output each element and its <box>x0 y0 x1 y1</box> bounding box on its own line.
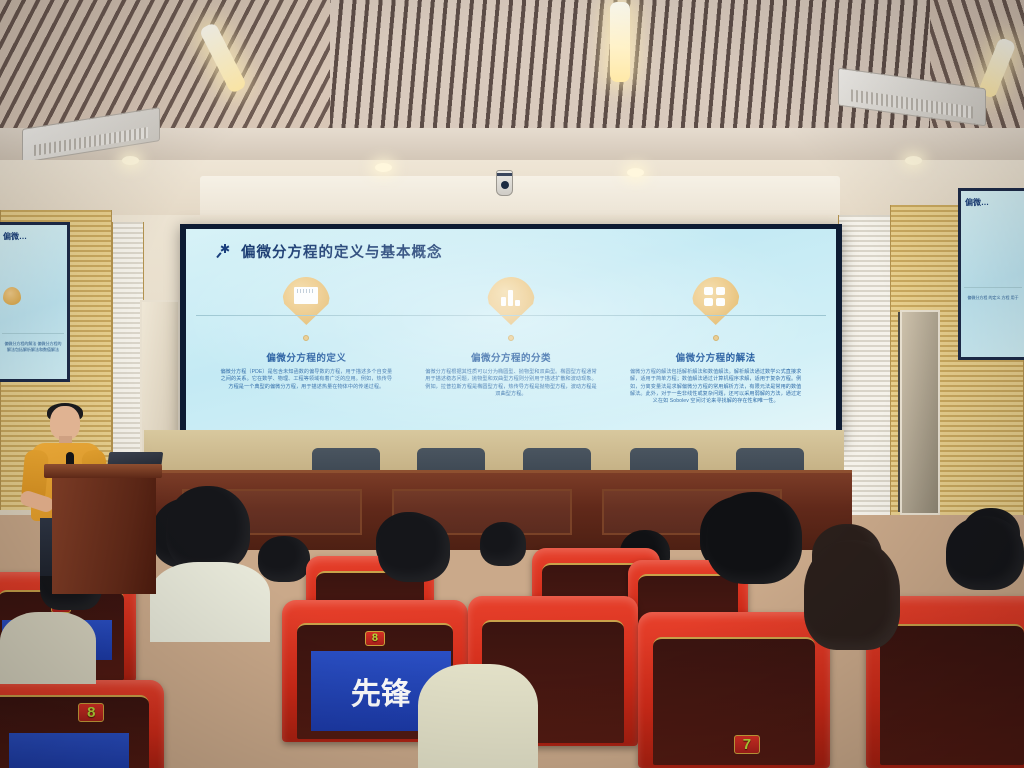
ceiling-camera-icon <box>496 170 513 196</box>
right-display-title: 偏微… <box>965 197 1021 208</box>
pin-glyph <box>704 287 728 307</box>
pin-glyph <box>294 287 318 307</box>
presenter-head <box>50 406 80 440</box>
slide-divider-line <box>196 315 826 316</box>
audience-head <box>480 522 526 566</box>
camera-band <box>497 173 512 176</box>
left-display-title: 偏微… <box>3 231 63 242</box>
timeline-node <box>508 335 514 341</box>
document-card-pin-icon <box>282 277 330 333</box>
slide-column: 偏微分方程的定义 偏微分方程（PDE）是包含未知函数的偏导数的方程，用于描述多个… <box>204 273 409 433</box>
audience-head <box>258 536 310 582</box>
linear-tube-light <box>610 2 630 82</box>
audience-seat[interactable]: 8 <box>0 680 164 768</box>
downlight-icon <box>375 163 392 172</box>
slide-column: 偏微分方程的分类 偏微分方程根据其性质可以分为椭圆型、抛物型和双曲型。椭圆型方程… <box>409 273 614 433</box>
door-right[interactable] <box>900 310 940 515</box>
column-body: 偏微分方程（PDE）是包含未知函数的偏导数的方程，用于描述多个自变量之间的关系。… <box>218 369 394 391</box>
projection-screen[interactable]: 偏微分方程的定义与基本概念 偏微分方程的定义 偏微分方 <box>180 224 842 446</box>
four-quadrant-pin-icon <box>692 277 740 333</box>
right-wall-display[interactable]: 偏微… 偏微分方程 的定义 方程 用于 <box>958 188 1024 360</box>
seat-back-panel: 8 <box>0 695 149 768</box>
four-quadrant-glyph <box>704 287 726 307</box>
column-heading: 偏微分方程的定义 <box>266 350 346 364</box>
audience-seat[interactable]: 7 <box>638 612 830 768</box>
seat-back-panel: 7 <box>653 637 814 765</box>
left-wall-display[interactable]: 偏微… 偏微分方程的解法 偏微分方程的解法包括解析解法和数值解法 <box>0 222 70 382</box>
audience-shoulders <box>418 664 538 768</box>
column-body: 偏微分方程根据其性质可以分为椭圆型、抛物型和双曲型。椭圆型方程通常用于描述稳态问… <box>423 369 599 398</box>
timeline-node <box>713 335 719 341</box>
audience-head-near <box>166 486 250 572</box>
bar-chart-glyph <box>499 287 523 307</box>
seat-number-plate: 8 <box>365 631 385 646</box>
lecture-hall-photo: 偏微… 偏微分方程的解法 偏微分方程的解法包括解析解法和数值解法 偏微… 偏微分… <box>0 0 1024 768</box>
downlight-icon <box>627 168 644 177</box>
audience-head-near <box>706 492 802 584</box>
left-display-rule <box>2 333 64 334</box>
downlight-icon <box>905 156 922 165</box>
wooden-podium <box>52 474 156 594</box>
timeline-node <box>303 335 309 341</box>
slide-title: 偏微分方程的定义与基本概念 <box>241 241 443 262</box>
left-display-body: 偏微分方程的解法 偏微分方程的解法包括解析解法和数值解法 <box>3 341 63 353</box>
column-heading: 偏微分方程的分类 <box>471 350 551 364</box>
seat-back-panel <box>880 624 1024 765</box>
four-quadrant-pin-icon <box>3 287 21 305</box>
seat-placard <box>9 733 129 768</box>
card-lines <box>297 289 315 293</box>
presentation-slide: 偏微分方程的定义与基本概念 偏微分方程的定义 偏微分方 <box>186 229 836 439</box>
audience-head-near <box>378 514 450 582</box>
podium-top <box>44 464 162 478</box>
card-glyph <box>294 287 318 304</box>
column-heading: 偏微分方程的解法 <box>676 350 756 364</box>
seat-number-plate: 8 <box>78 703 104 722</box>
right-display-body: 偏微分方程 的定义 方程 用于 <box>965 295 1021 301</box>
audience-head-near <box>804 540 900 650</box>
audience-head-near <box>946 516 1024 590</box>
column-body: 偏微分方程的解法包括解析解法和数值解法。解析解法通过数学公式直接求解，适用于简单… <box>628 369 804 405</box>
right-display-content: 偏微… 偏微分方程 的定义 方程 用于 <box>961 191 1024 357</box>
camera-lens <box>501 181 509 189</box>
right-display-rule <box>964 287 1022 288</box>
slide-columns: 偏微分方程的定义 偏微分方程（PDE）是包含未知函数的偏导数的方程，用于描述多个… <box>204 273 818 433</box>
audience-shoulders <box>0 612 96 684</box>
slide-title-row: 偏微分方程的定义与基本概念 <box>216 241 443 262</box>
sparkle-icon <box>216 243 234 261</box>
slide-column: 偏微分方程的解法 偏微分方程的解法包括解析解法和数值解法。解析解法通过数学公式直… <box>613 273 818 433</box>
left-display-content: 偏微… 偏微分方程的解法 偏微分方程的解法包括解析解法和数值解法 <box>0 225 67 379</box>
pin-glyph <box>499 287 523 307</box>
downlight-icon <box>122 156 139 165</box>
audience-shoulders <box>150 562 270 642</box>
seat-number-plate: 7 <box>734 735 760 754</box>
bar-chart-pin-icon <box>487 277 535 333</box>
